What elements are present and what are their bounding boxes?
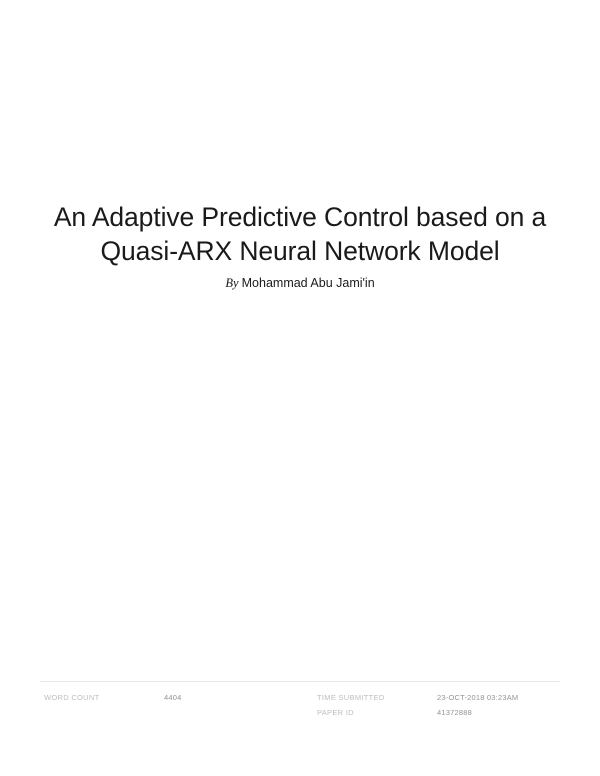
metadata-row-time-submitted: TIME SUBMITTED 23-OCT-2018 03:23AM xyxy=(317,690,560,705)
cover-title-block: An Adaptive Predictive Control based on … xyxy=(30,200,570,291)
byline: By Mohammad Abu Jami'in xyxy=(30,275,570,291)
paper-id-value: 41372888 xyxy=(437,705,472,720)
metadata-column-right: TIME SUBMITTED 23-OCT-2018 03:23AM PAPER… xyxy=(317,690,560,720)
paper-id-label: PAPER ID xyxy=(317,705,354,720)
time-submitted-label: TIME SUBMITTED xyxy=(317,690,385,705)
time-submitted-value: 23-OCT-2018 03:23AM xyxy=(437,690,518,705)
footer-divider xyxy=(40,681,560,682)
metadata-row-word-count: WORD COUNT 4404 xyxy=(44,690,334,705)
metadata-row-paper-id: PAPER ID 41372888 xyxy=(317,705,560,720)
byline-prefix: By xyxy=(225,276,241,290)
metadata-column-left: WORD COUNT 4404 xyxy=(44,690,334,705)
word-count-label: WORD COUNT xyxy=(44,690,100,705)
byline-author: Mohammad Abu Jami'in xyxy=(242,276,375,290)
page-title: An Adaptive Predictive Control based on … xyxy=(30,200,570,268)
word-count-value: 4404 xyxy=(164,690,182,705)
document-cover-page: An Adaptive Predictive Control based on … xyxy=(0,0,600,776)
